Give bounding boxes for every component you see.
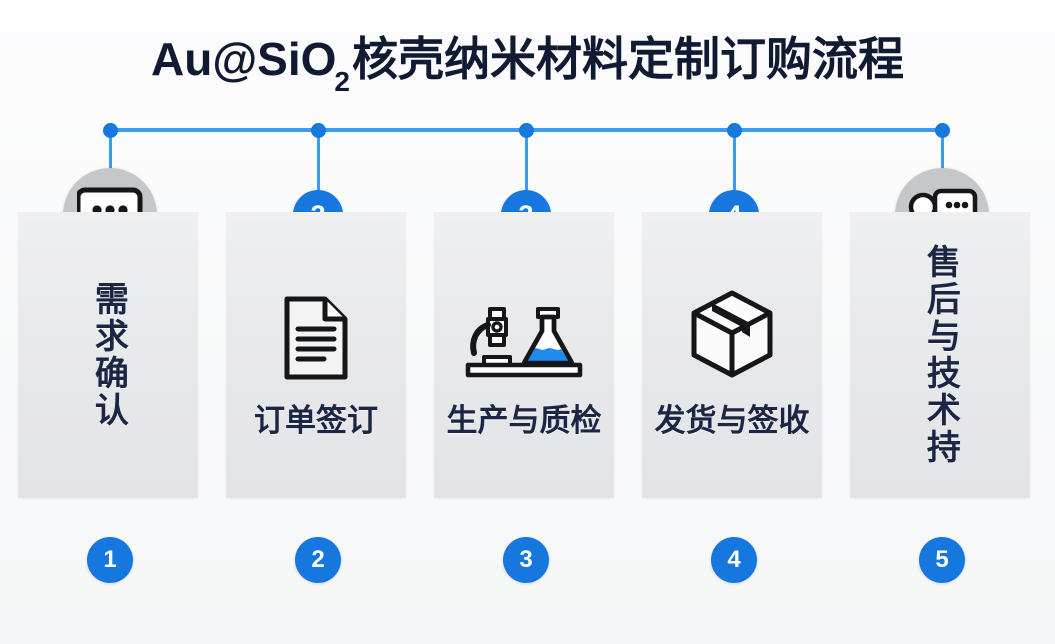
title-subscript: 2 — [334, 66, 350, 97]
step-card-content-2: 订单签订 — [226, 212, 406, 498]
step-badge-1[interactable]: 1 — [87, 537, 133, 583]
step-card-content-4: 发货与签收 — [642, 212, 822, 498]
step-card-content-5: 售后与技术持 — [850, 212, 1030, 498]
timeline-stem-4 — [733, 130, 736, 192]
step-card-1[interactable]: 需求确认 — [18, 212, 198, 498]
timeline-stem-3 — [525, 130, 528, 192]
timeline-dot-5[interactable] — [935, 123, 950, 138]
step-label-4: 发货与签收 — [655, 395, 810, 440]
step-card-content-3: 生产与质检 — [434, 212, 614, 498]
infographic-canvas: Au@SiO2核壳纳米材料定制订购流程 234 需求确认订单签订生产与质检发货与… — [0, 0, 1055, 644]
step-label-3: 生产与质检 — [447, 395, 602, 440]
title-suffix: 核壳纳米材料定制订购流程 — [352, 33, 904, 85]
page-title: Au@SiO2核壳纳米材料定制订购流程 — [0, 34, 1055, 92]
timeline-dot-3[interactable] — [519, 123, 534, 138]
timeline-stem-2 — [317, 130, 320, 192]
package-box-icon — [688, 289, 776, 381]
step-card-4[interactable]: 发货与签收 — [642, 212, 822, 498]
step-badge-3[interactable]: 3 — [503, 537, 549, 583]
step-label-2: 订单签订 — [254, 395, 378, 440]
document-icon — [282, 295, 350, 381]
step-badge-2[interactable]: 2 — [295, 537, 341, 583]
step-card-3[interactable]: 生产与质检 — [434, 212, 614, 498]
timeline-dot-1[interactable] — [103, 123, 118, 138]
step-card-5[interactable]: 售后与技术持 — [850, 212, 1030, 498]
step-card-content-1: 需求确认 — [18, 212, 198, 498]
step-badge-4[interactable]: 4 — [711, 537, 757, 583]
step-label-1: 需求确认 — [90, 281, 127, 429]
step-label-5: 售后与技术持 — [922, 244, 959, 466]
microscope-flask-icon — [462, 301, 586, 381]
step-badge-5[interactable]: 5 — [919, 537, 965, 583]
step-card-2[interactable]: 订单签订 — [226, 212, 406, 498]
timeline-dot-4[interactable] — [727, 123, 742, 138]
timeline-dot-2[interactable] — [311, 123, 326, 138]
title-prefix: Au@SiO — [151, 33, 336, 85]
